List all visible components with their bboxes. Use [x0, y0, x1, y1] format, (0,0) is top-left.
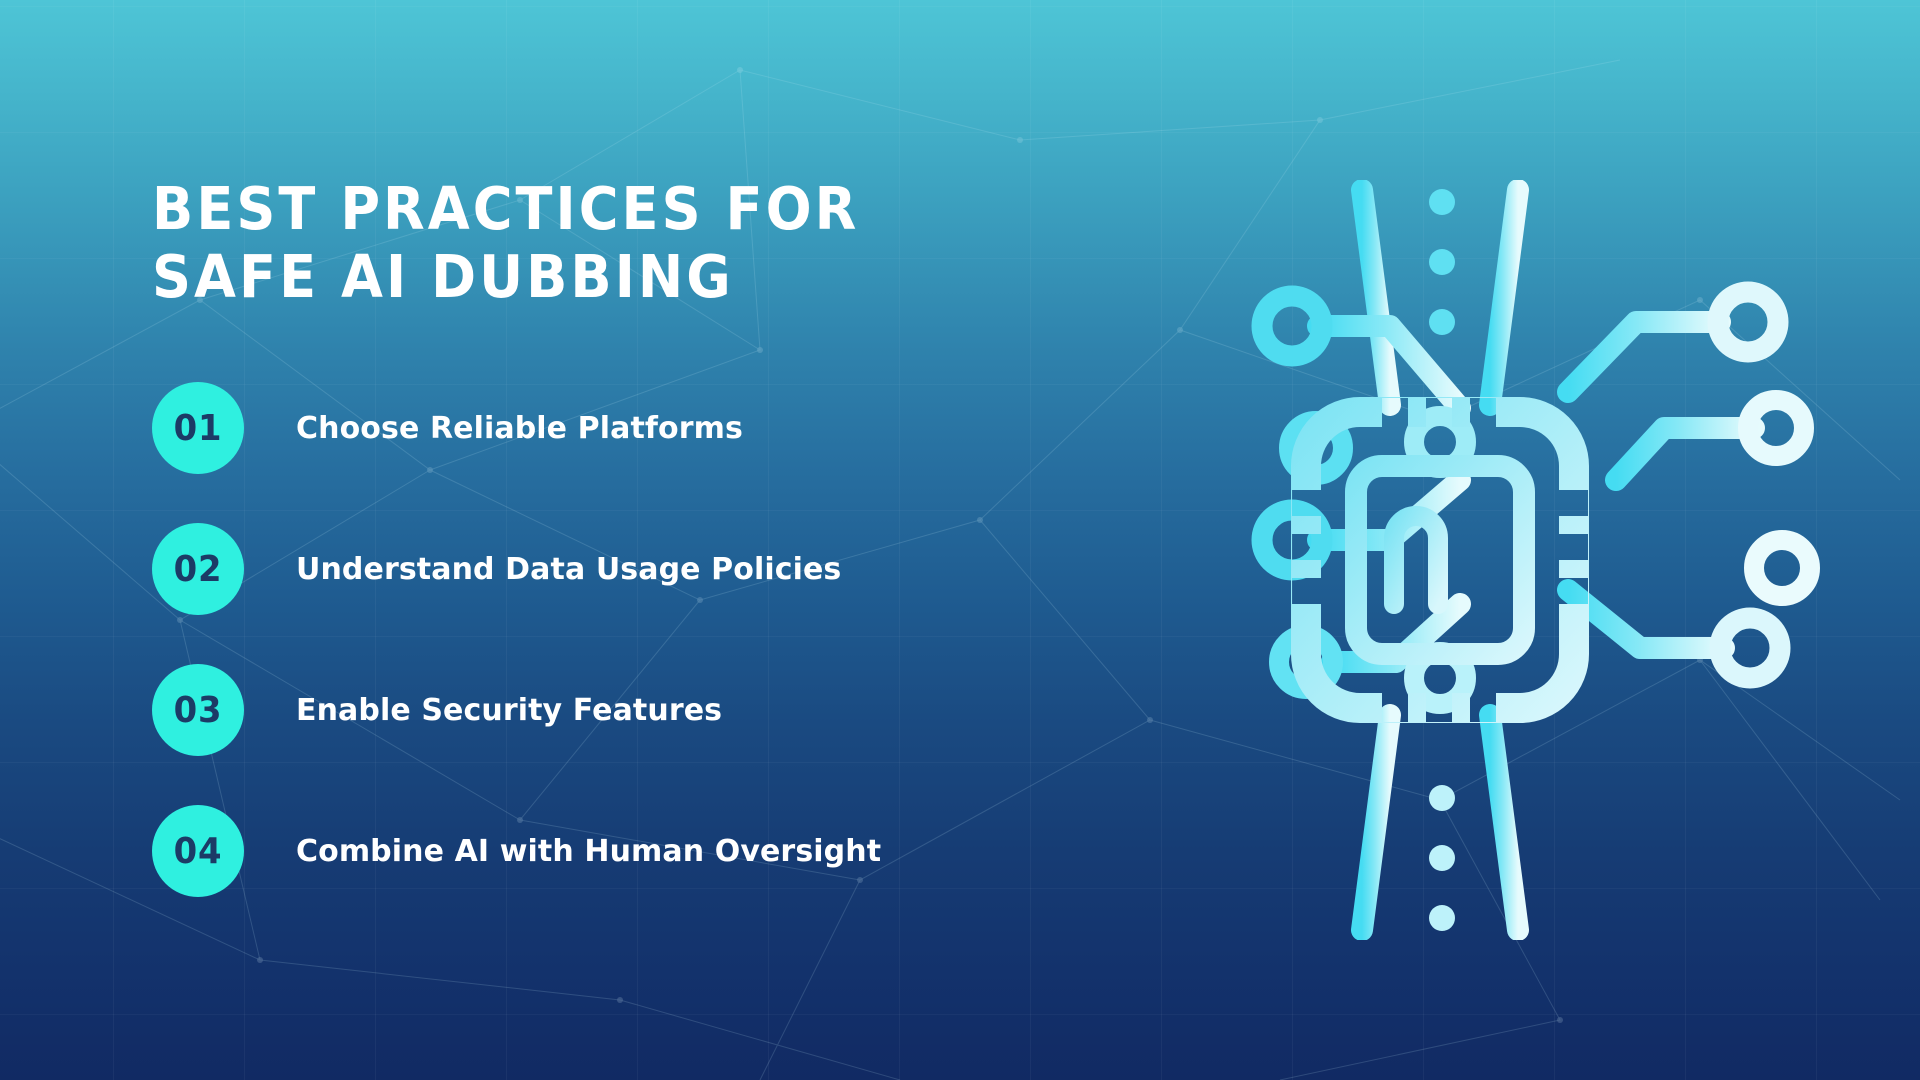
chip-ai-label [1394, 516, 1478, 604]
ai-chip-circuit-illustration [1060, 180, 1820, 940]
antenna-top-left [1362, 190, 1390, 405]
list-item-number-badge: 02 [152, 523, 244, 615]
signal-dots-top [1429, 189, 1455, 335]
list-item-number-badge: 04 [152, 805, 244, 897]
list-item-number: 01 [174, 408, 223, 449]
slide-canvas: BEST PRACTICES FOR SAFE AI DUBBING 01 Ch… [0, 0, 1920, 1080]
antenna-bottom-left [1362, 715, 1390, 930]
list-item-number: 04 [174, 831, 223, 872]
list-item[interactable]: 03 Enable Security Features [152, 664, 1012, 756]
content-column: BEST PRACTICES FOR SAFE AI DUBBING 01 Ch… [152, 176, 1012, 897]
list-item[interactable]: 02 Understand Data Usage Policies [152, 523, 1012, 615]
ai-chip-svg [1060, 180, 1820, 940]
circuit-nodes-right [1718, 292, 1810, 678]
list-item-number-badge: 01 [152, 382, 244, 474]
antenna-top-right [1490, 190, 1518, 405]
list-item-number: 02 [174, 549, 223, 590]
page-title-line-2: SAFE AI DUBBING [152, 244, 1029, 310]
antenna-bottom-right [1490, 715, 1518, 930]
list-item-label: Understand Data Usage Policies [296, 552, 841, 587]
list-item-number: 03 [174, 690, 223, 731]
list-item-label: Combine AI with Human Oversight [296, 834, 881, 869]
list-item[interactable]: 04 Combine AI with Human Oversight [152, 805, 1012, 897]
list-item-label: Enable Security Features [296, 693, 722, 728]
list-item[interactable]: 01 Choose Reliable Platforms [152, 382, 1012, 474]
signal-dots-bottom [1429, 785, 1455, 931]
page-title: BEST PRACTICES FOR SAFE AI DUBBING [152, 176, 1012, 310]
list-item-label: Choose Reliable Platforms [296, 411, 743, 446]
page-title-line-1: BEST PRACTICES FOR [152, 176, 1029, 242]
best-practices-list: 01 Choose Reliable Platforms 02 Understa… [152, 382, 1012, 897]
list-item-number-badge: 03 [152, 664, 244, 756]
